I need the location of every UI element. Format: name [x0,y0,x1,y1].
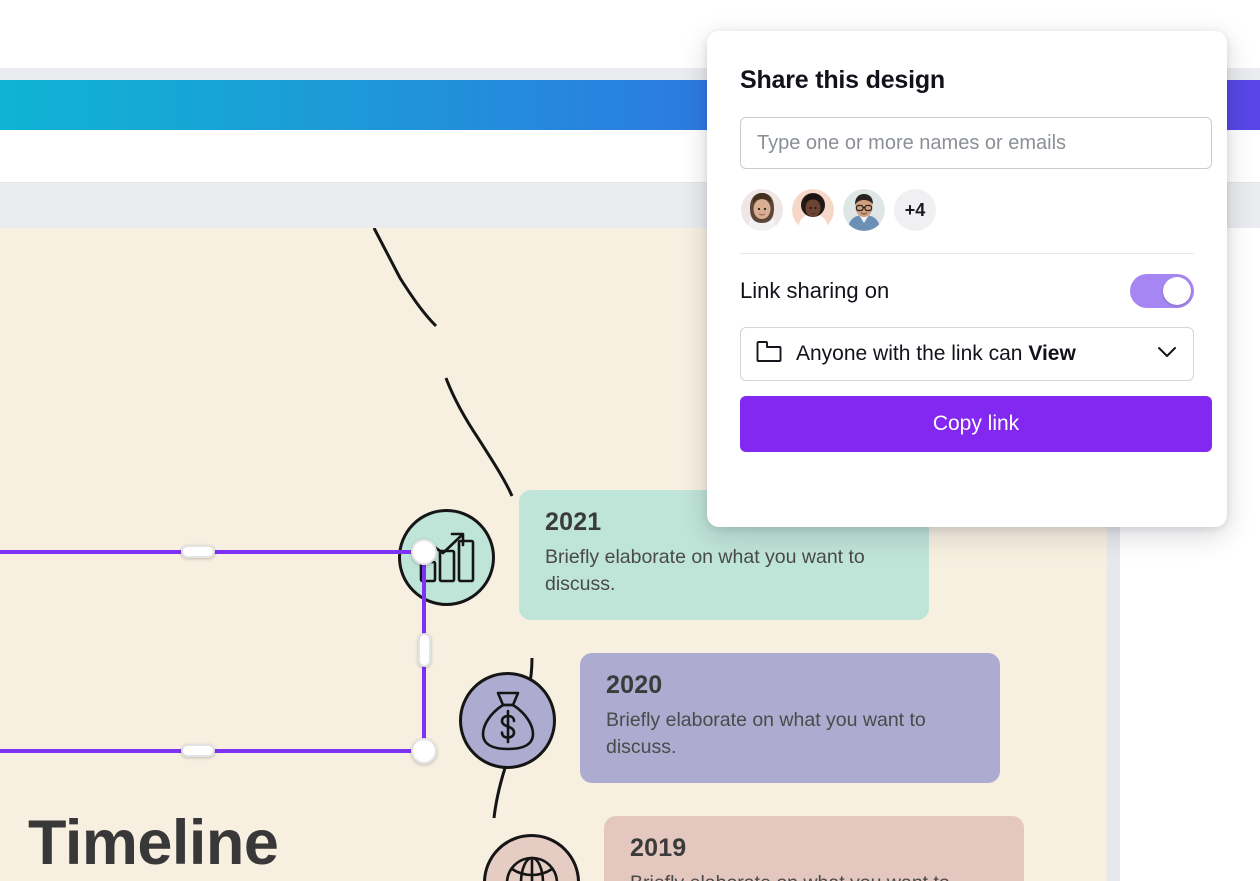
page-title[interactable]: Timeline Diagram [28,806,358,881]
avatar-person-3[interactable] [843,189,885,231]
folder-icon [756,341,782,367]
timeline-node-2019[interactable] [483,834,580,881]
link-sharing-toggle[interactable] [1130,274,1194,308]
timeline-card-2019[interactable]: 2019 Briefly elaborate on what you want … [604,816,1024,881]
timeline-card-description: Briefly elaborate on what you want to di… [606,707,936,762]
permission-label: Anyone with the link can View [796,342,1143,366]
permission-prefix: Anyone with the link can [796,342,1022,365]
page-title-line-1: Timeline [28,806,358,880]
timeline-card-description: Briefly elaborate on what you want to di… [545,544,875,599]
permission-dropdown[interactable]: Anyone with the link can View [740,327,1194,381]
selection-handle-top-right[interactable] [411,539,437,565]
timeline-card-year: 2019 [630,834,1000,863]
avatar-overflow-count[interactable]: +4 [894,189,936,231]
copy-link-button[interactable]: Copy link [740,396,1212,452]
selection-handle-right[interactable] [418,633,431,667]
timeline-card-year: 2020 [606,671,976,700]
avatar-person-1[interactable] [741,189,783,231]
link-sharing-row: Link sharing on [740,274,1194,308]
selection-handle-bottom-right[interactable] [411,738,437,764]
selection-handle-top[interactable] [181,545,215,558]
toggle-knob [1163,277,1191,305]
suggested-recipients-row: +4 [741,189,1207,231]
chevron-down-icon[interactable] [1157,345,1177,363]
globe-icon [503,854,561,881]
selection-handle-bottom[interactable] [181,744,215,757]
share-dialog: Share this design [707,31,1227,527]
timeline-card-description: Briefly elaborate on what you want to di… [630,870,960,881]
money-bag-icon [479,690,537,752]
timeline-node-2020[interactable] [459,672,556,769]
dialog-divider [740,253,1194,254]
share-dialog-title: Share this design [727,31,1207,95]
link-sharing-label: Link sharing on [740,278,889,304]
permission-value: View [1028,342,1075,365]
recipients-input[interactable] [740,117,1212,169]
avatar-person-2[interactable] [792,189,834,231]
timeline-card-2020[interactable]: 2020 Briefly elaborate on what you want … [580,653,1000,783]
